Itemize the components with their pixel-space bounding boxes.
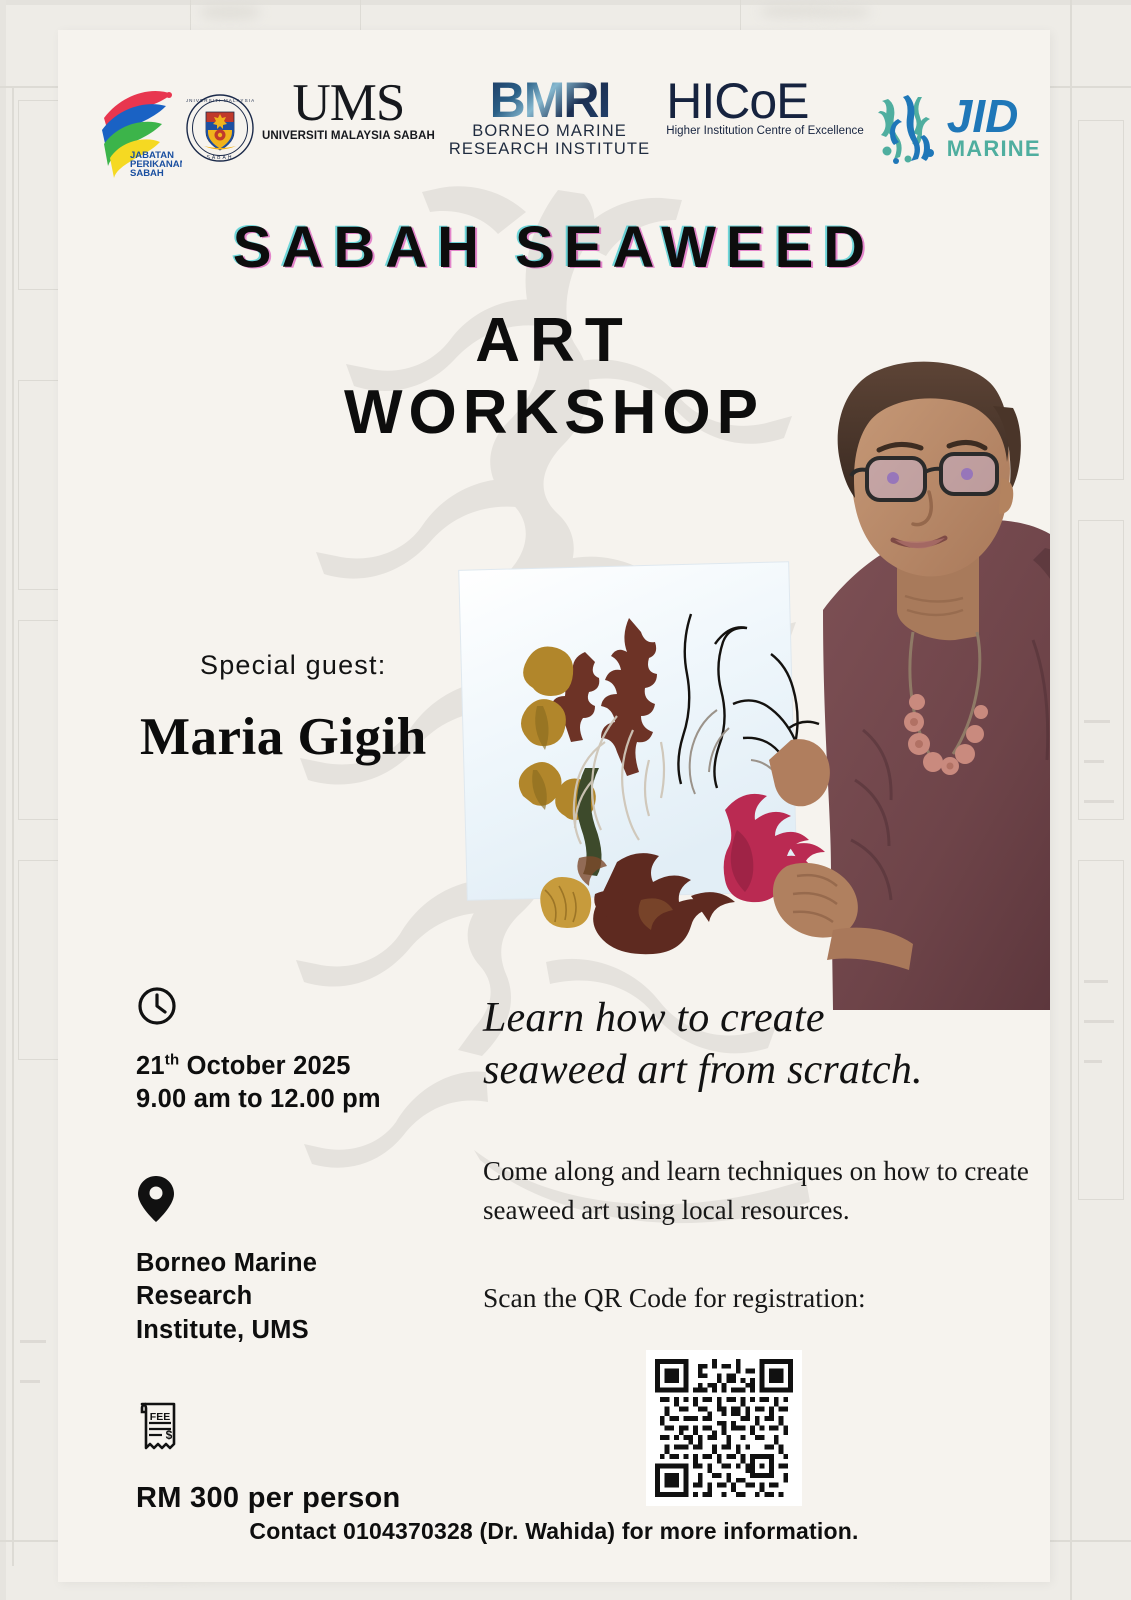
tagline-line-1: Learn how to create [483, 992, 1050, 1044]
bmri-wordmark: BMRI [490, 78, 610, 122]
body-copy: Come along and learn techniques on how t… [483, 1152, 1050, 1230]
svg-text:SABAH: SABAH [207, 155, 234, 161]
receipt-fee-icon: FEE $ [136, 1399, 466, 1464]
bmri-subtitle-line2: RESEARCH INSTITUTE [449, 140, 650, 158]
bmri-subtitle-line1: BORNEO MARINE [472, 122, 627, 140]
fee-amount: RM 300 per person [136, 1482, 466, 1515]
logo-hicoe: HICoE Higher Institution Centre of Excel… [666, 78, 864, 178]
hicoe-wordmark: HICoE [666, 78, 808, 124]
venue-line-2: Research [136, 1280, 466, 1313]
info-column: 21th October 2025 9.00 am to 12.00 pm Bo… [136, 985, 466, 1547]
datetime-block: 21th October 2025 9.00 am to 12.00 pm [136, 985, 466, 1116]
special-guest-block: Special guest: Maria Gigih [136, 650, 556, 767]
svg-text:SABAH: SABAH [130, 168, 164, 178]
venue-line-3: Institute, UMS [136, 1314, 466, 1347]
venue-line-1: Borneo Marine [136, 1247, 466, 1280]
description-column: Learn how to create seaweed art from scr… [483, 992, 1050, 1314]
headline-line-1: SABAH SEAWEED [58, 218, 1050, 279]
logo-strip: JABATAN PERIKANAN SABAH UNIVERS [96, 78, 1016, 178]
ums-wordmark-subtitle: UNIVERSITI MALAYSIA SABAH [262, 130, 435, 142]
clock-icon [136, 985, 466, 1032]
event-date-day-suffix: th [165, 1052, 180, 1069]
receipt-fee-label: FEE [150, 1411, 170, 1423]
tagline-line-2: seaweed art from scratch. [483, 1044, 1050, 1096]
event-date-rest: October 2025 [179, 1052, 350, 1080]
logo-ums-wordmark: UMS UNIVERSITI MALAYSIA SABAH [262, 78, 435, 178]
jid-subtitle: MARINE [947, 138, 1041, 160]
scan-qr-prompt: Scan the QR Code for registration: [483, 1282, 1050, 1314]
fee-block: FEE $ RM 300 per person [136, 1399, 466, 1515]
poster-canvas: JABATAN PERIKANAN SABAH UNIVERS [0, 0, 1131, 1600]
logo-jabatan-perikanan-sabah: JABATAN PERIKANAN SABAH [96, 78, 182, 178]
hicoe-subtitle: Higher Institution Centre of Excellence [666, 125, 864, 137]
location-pin-icon [136, 1174, 466, 1229]
event-time: 9.00 am to 12.00 pm [136, 1083, 466, 1116]
logo-ums-seal: UNIVERSITI MALAYSIA SABAH [186, 78, 254, 178]
contact-line: Contact 0104370328 (Dr. Wahida) for more… [58, 1518, 1050, 1545]
receipt-currency-symbol: $ [166, 1428, 173, 1442]
venue-block: Borneo Marine Research Institute, UMS [136, 1174, 466, 1346]
event-date-day: 21 [136, 1052, 165, 1080]
registration-qr-code[interactable] [646, 1350, 802, 1506]
logo-jid-marine: JID MARINE [878, 78, 1041, 178]
ums-wordmark-text: UMS [293, 78, 405, 128]
logo-bmri: BMRI BORNEO MARINE RESEARCH INSTITUTE [449, 78, 650, 178]
jid-wordmark: JID [947, 96, 1041, 137]
event-date: 21th October 2025 [136, 1050, 466, 1083]
jid-seaweed-glyph-icon [878, 89, 940, 167]
special-guest-name: Maria Gigih [140, 707, 556, 767]
special-guest-label: Special guest: [200, 650, 556, 681]
svg-text:UNIVERSITI MALAYSIA: UNIVERSITI MALAYSIA [186, 98, 254, 103]
poster-card: JABATAN PERIKANAN SABAH UNIVERS [58, 30, 1050, 1582]
